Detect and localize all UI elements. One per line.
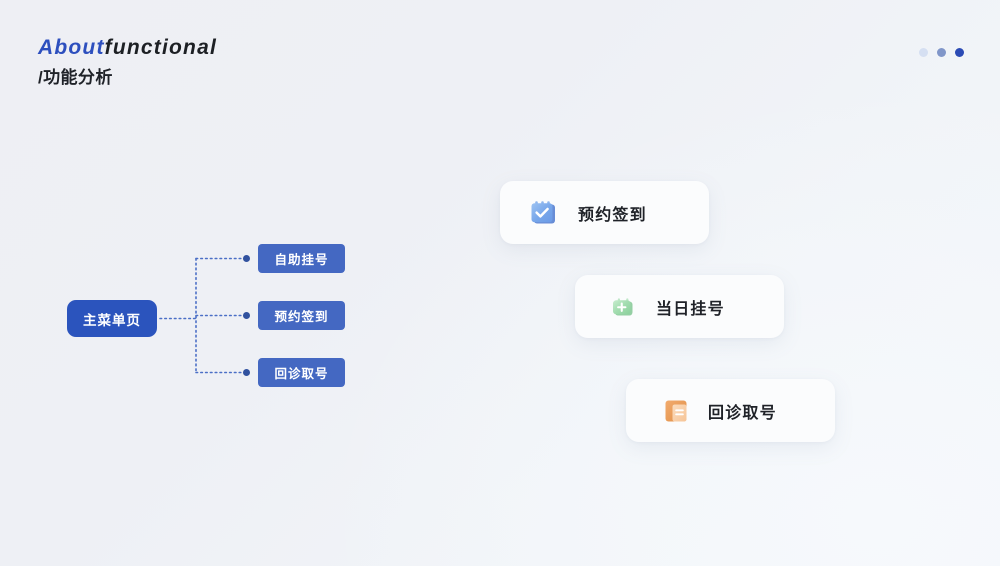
mindmap-child-label-3: 回诊取号: [274, 363, 328, 382]
mindmap-connector-dot-2-icon: [243, 312, 250, 319]
feature-card-label-3: 回诊取号: [708, 399, 777, 423]
mindmap-child-label-2: 预约签到: [274, 306, 328, 325]
feature-card-appointment-checkin[interactable]: 预约签到: [500, 181, 709, 244]
mindmap-root-node[interactable]: 主菜单页: [67, 300, 157, 337]
feature-card-label-1: 预约签到: [578, 201, 647, 225]
mindmap-diagram: 主菜单页 自助挂号 预约签到 回诊取号: [0, 0, 1000, 566]
mindmap-child-node-1[interactable]: 自助挂号: [258, 244, 345, 273]
mindmap-connectors: [0, 0, 1000, 566]
feature-card-label-2: 当日挂号: [656, 295, 725, 319]
calendar-check-icon: [528, 198, 558, 228]
book-document-icon: [661, 396, 691, 426]
mindmap-root-label: 主菜单页: [83, 309, 141, 329]
mindmap-child-node-3[interactable]: 回诊取号: [258, 358, 345, 387]
feature-card-sameday-registration[interactable]: 当日挂号: [575, 275, 784, 338]
mindmap-child-node-2[interactable]: 预约签到: [258, 301, 345, 330]
mindmap-connector-dot-3-icon: [243, 369, 250, 376]
calendar-plus-icon: [608, 292, 638, 322]
feature-card-return-visit-number[interactable]: 回诊取号: [626, 379, 835, 442]
mindmap-child-label-1: 自助挂号: [274, 249, 328, 268]
slide-canvas: Aboutfunctional /功能分析 主菜单页 自助挂号: [0, 0, 1000, 566]
mindmap-connector-dot-1-icon: [243, 255, 250, 262]
